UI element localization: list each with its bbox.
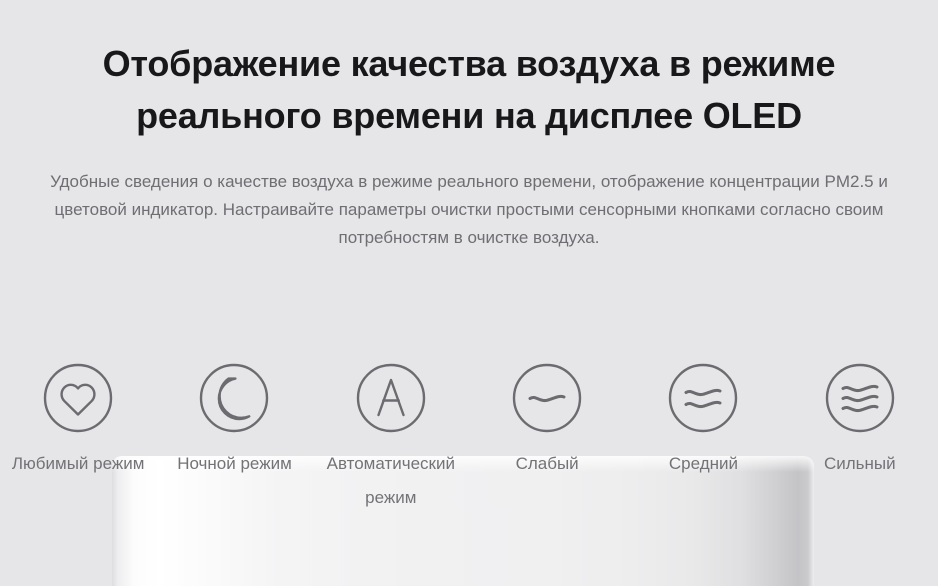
one-wave-in-circle-icon: [511, 362, 583, 434]
three-waves-in-circle-icon: [824, 362, 896, 434]
page-description: Удобные сведения о качестве воздуха в ре…: [0, 142, 938, 252]
mode-label: Любимый режим: [0, 447, 156, 481]
mode-label: Слабый: [469, 447, 625, 481]
mode-item-favorite[interactable]: Любимый режим: [0, 362, 156, 515]
mode-item-night[interactable]: Ночной режим: [156, 362, 312, 515]
mode-list: Любимый режим Ночной режим Автоматически…: [0, 362, 938, 515]
letter-a-in-circle-icon: [355, 362, 427, 434]
mode-label: Сильный: [782, 447, 938, 481]
two-waves-in-circle-icon: [667, 362, 739, 434]
page-title: Отображение качества воздуха в режиме ре…: [0, 0, 938, 142]
text-region: Отображение качества воздуха в режиме ре…: [0, 0, 938, 252]
mode-item-low[interactable]: Слабый: [469, 362, 625, 515]
mode-item-high[interactable]: Сильный: [782, 362, 938, 515]
mode-label: Ночной режим: [156, 447, 312, 481]
mode-item-auto[interactable]: Автоматический режим: [313, 362, 469, 515]
mode-item-medium[interactable]: Средний: [625, 362, 781, 515]
mode-label: Автоматический режим: [313, 447, 469, 515]
heart-in-circle-icon: [42, 362, 114, 434]
crescent-moon-in-circle-icon: [198, 362, 270, 434]
mode-label: Средний: [625, 447, 781, 481]
page-root: Отображение качества воздуха в режиме ре…: [0, 0, 938, 586]
